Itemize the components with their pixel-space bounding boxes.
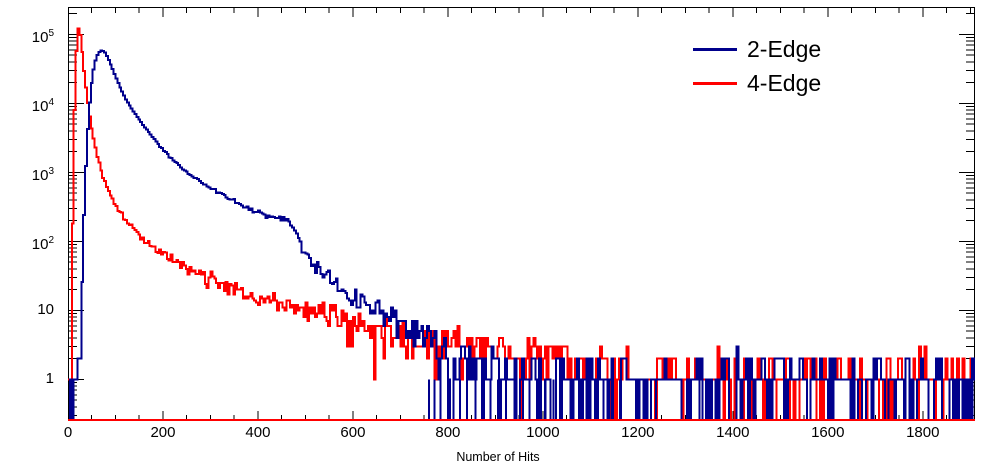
x-axis-title: Number of Hits (0, 450, 996, 464)
y-tick-label-105: 105 (8, 25, 54, 47)
x-tick-label-1200: 1200 (598, 424, 678, 442)
y-tick-label-10: 10 (8, 301, 54, 319)
chart-legend: 2-Edge 4-Edge (693, 32, 913, 100)
x-tick-label-1000: 1000 (503, 424, 583, 442)
y-tick-label-103: 103 (8, 163, 54, 185)
x-tick-label-0: 0 (28, 424, 108, 442)
legend-label-4-edge: 4-Edge (747, 70, 821, 97)
legend-swatch-2-edge (693, 48, 737, 51)
x-tick-label-800: 800 (408, 424, 488, 442)
chart-root: 020040060080010001200140016001800 110102… (0, 0, 996, 472)
legend-label-2-edge: 2-Edge (747, 36, 821, 63)
x-tick-label-1800: 1800 (883, 424, 963, 442)
y-tick-label-102: 102 (8, 232, 54, 254)
x-tick-label-1600: 1600 (788, 424, 868, 442)
x-tick-label-600: 600 (313, 424, 393, 442)
legend-entry-2-edge: 2-Edge (693, 32, 913, 66)
x-tick-label-400: 400 (218, 424, 298, 442)
legend-swatch-4-edge (693, 82, 737, 85)
x-tick-label-200: 200 (123, 424, 203, 442)
legend-entry-4-edge: 4-Edge (693, 66, 913, 100)
x-tick-label-1400: 1400 (693, 424, 773, 442)
y-tick-label-1: 1 (8, 370, 54, 388)
y-tick-label-104: 104 (8, 94, 54, 116)
